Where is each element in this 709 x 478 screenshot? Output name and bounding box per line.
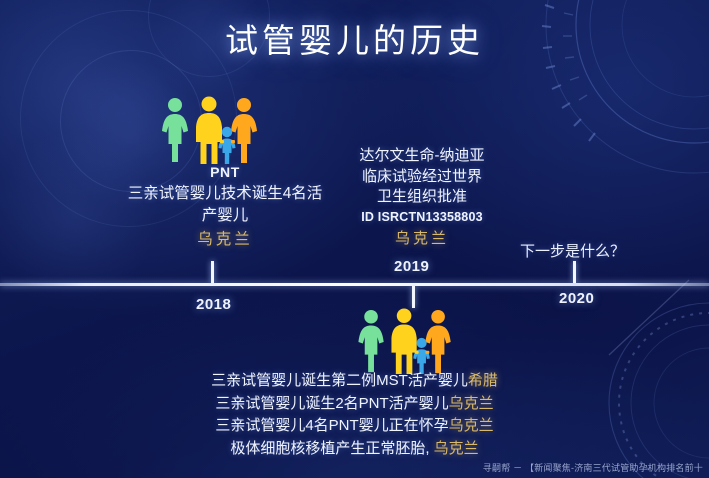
timeline-year-2020: 2020 xyxy=(559,290,594,307)
event-2018-line1: 三亲试管婴儿技术诞生4名活 xyxy=(90,183,360,204)
family-icon-bottom-svg xyxy=(352,308,462,376)
detail-line-country: 希腊 xyxy=(468,372,498,389)
timeline-tick-2019 xyxy=(412,286,415,308)
event-block-2018: PNT 三亲试管婴儿技术诞生4名活 产婴儿 乌克兰 xyxy=(90,163,360,250)
event-2018-country: 乌克兰 xyxy=(90,229,360,250)
event-2019-line3: 卫生组织批准 xyxy=(332,187,512,208)
man-yellow-figure xyxy=(196,97,222,165)
detail-line: 三亲试管婴儿诞生2名PNT活产婴儿乌克兰 xyxy=(0,394,709,415)
family-icon-top xyxy=(158,96,266,171)
detail-line-text: 三亲试管婴儿4名PNT婴儿正在怀孕 xyxy=(215,417,448,434)
event-block-2020: 下一步是什么？ xyxy=(520,242,625,263)
woman-green-figure xyxy=(358,310,383,372)
timeline-tick-2018 xyxy=(211,261,214,283)
presentation-slide: 试管婴儿的历史 xyxy=(0,0,709,478)
source-watermark: 寻嗣帮 － 【新闻聚焦-济南三代试管助孕机构排名前十 xyxy=(483,461,703,474)
detail-line-country: 乌克兰 xyxy=(449,417,494,434)
woman-orange-figure xyxy=(231,98,257,163)
hand-link xyxy=(415,351,419,354)
event-2019-line2: 临床试验经过世界 xyxy=(332,167,512,188)
event-block-2019-upper: 达尔文生命-纳迪亚 临床试验经过世界 卫生组织批准 ID ISRCTN13358… xyxy=(332,146,512,250)
detail-line: 极体细胞核移植产生正常胚胎, 乌克兰 xyxy=(0,439,709,460)
event-block-2019-details: 三亲试管婴儿诞生第二例MST活产婴儿希腊 三亲试管婴儿诞生2名PNT活产婴儿乌克… xyxy=(0,371,709,462)
page-title: 试管婴儿的历史 xyxy=(0,14,709,62)
detail-line-country: 乌克兰 xyxy=(449,395,494,412)
hand-link xyxy=(425,351,429,354)
event-2018-tag: PNT xyxy=(90,163,360,182)
timeline-year-2019: 2019 xyxy=(394,258,429,275)
family-icon-top-svg xyxy=(158,96,266,166)
event-2020-question: 下一步是什么？ xyxy=(520,242,625,263)
event-2019-country: 乌克兰 xyxy=(332,229,512,250)
timeline-tick-2020 xyxy=(573,261,576,283)
woman-green-figure xyxy=(162,98,188,162)
hand-link xyxy=(220,140,224,143)
detail-line-text: 三亲试管婴儿诞生第二例MST活产婴儿 xyxy=(211,372,468,389)
detail-line-text: 三亲试管婴儿诞生2名PNT活产婴儿 xyxy=(215,395,448,412)
detail-line-text: 极体细胞核移植产生正常胚胎, xyxy=(230,440,429,457)
woman-orange-figure xyxy=(425,310,450,373)
event-2019-line1: 达尔文生命-纳迪亚 xyxy=(332,146,512,167)
detail-line: 三亲试管婴儿诞生第二例MST活产婴儿希腊 xyxy=(0,371,709,392)
timeline-axis xyxy=(0,283,709,286)
detail-line-country: 乌克兰 xyxy=(434,440,479,457)
hand-link xyxy=(231,140,235,143)
timeline-year-2018: 2018 xyxy=(196,296,231,313)
event-2018-line2: 产婴儿 xyxy=(90,205,360,226)
detail-line: 三亲试管婴儿4名PNT婴儿正在怀孕乌克兰 xyxy=(0,416,709,437)
event-2019-trial-id: ID ISRCTN13358803 xyxy=(332,209,512,226)
man-yellow-figure xyxy=(391,308,416,374)
